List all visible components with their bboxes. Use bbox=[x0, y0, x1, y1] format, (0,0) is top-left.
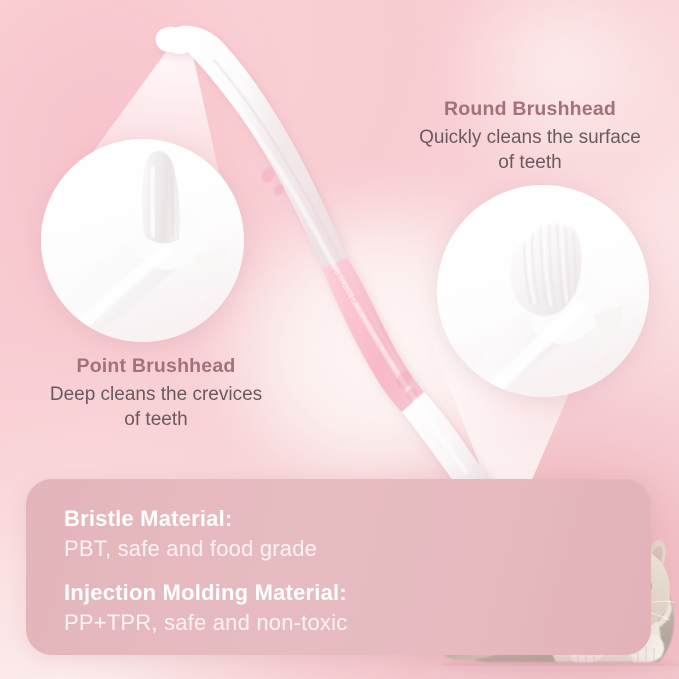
spec-value-injection-molding-material: PP+TPR, safe and non-toxic bbox=[64, 609, 484, 638]
callout-point-description-line1: Deep cleans the crevices bbox=[8, 383, 304, 408]
callout-round-description: Quickly cleans the surface of teeth bbox=[390, 126, 670, 175]
spec-rows: Bristle Material: PBT, safe and food gra… bbox=[64, 505, 484, 637]
inset-left-point-brushhead bbox=[41, 139, 244, 342]
spec-row-bristle-material: Bristle Material: PBT, safe and food gra… bbox=[64, 505, 484, 563]
callout-round-description-line2: of teeth bbox=[390, 151, 670, 176]
spec-label-injection-molding-material: Injection Molding Material: bbox=[64, 579, 484, 607]
inset-right-round-brushhead bbox=[437, 185, 649, 397]
callout-round-brushhead: Round Brushhead Quickly cleans the surfa… bbox=[390, 98, 670, 175]
callout-point-title: Point Brushhead bbox=[8, 355, 304, 378]
spec-panel: Bristle Material: PBT, safe and food gra… bbox=[26, 479, 651, 655]
callout-round-description-line1: Quickly cleans the surface bbox=[390, 126, 670, 151]
callout-point-description: Deep cleans the crevices of teeth bbox=[8, 383, 304, 432]
spec-label-bristle-material: Bristle Material: bbox=[64, 505, 484, 533]
callout-point-description-line2: of teeth bbox=[8, 408, 304, 433]
callout-round-title: Round Brushhead bbox=[390, 98, 670, 121]
spec-value-bristle-material: PBT, safe and food grade bbox=[64, 535, 484, 564]
callout-point-brushhead: Point Brushhead Deep cleans the crevices… bbox=[8, 355, 304, 432]
product-infographic: chicisP bbox=[0, 0, 679, 679]
spec-row-injection-molding-material: Injection Molding Material: PP+TPR, safe… bbox=[64, 579, 484, 637]
